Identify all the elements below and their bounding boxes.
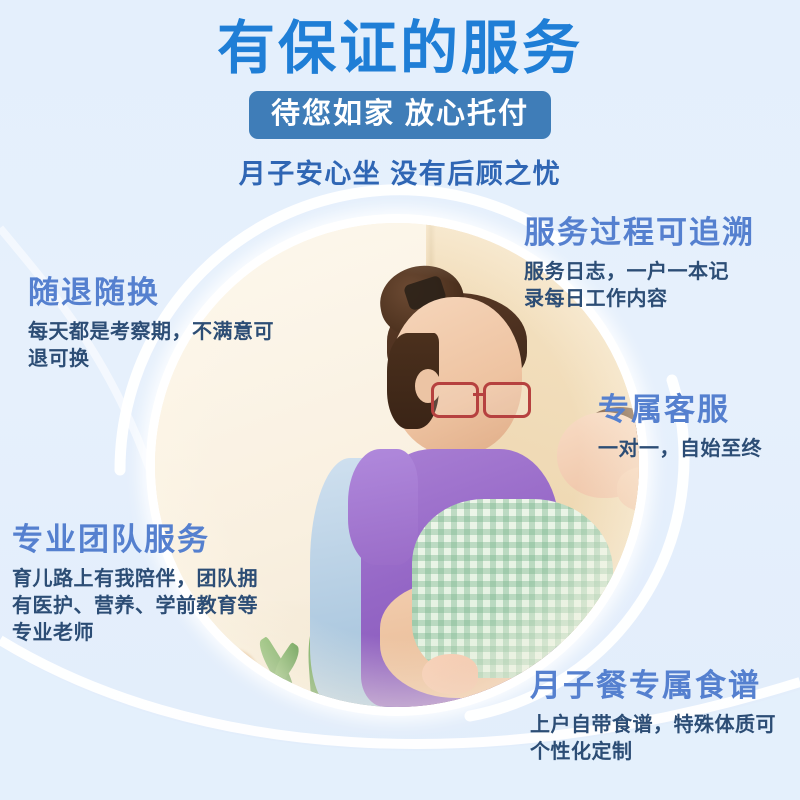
feature-line: 有医护、营养、学前教育等 bbox=[12, 595, 258, 617]
feature-line: 专业老师 bbox=[12, 622, 94, 644]
poster-subtitle: 月子安心坐 没有后顾之忧 bbox=[0, 152, 800, 191]
poster-header: 有保证的服务 待您如家 放心托付 月子安心坐 没有后顾之忧 bbox=[0, 0, 800, 191]
feature-return-title: 随退随换 bbox=[28, 275, 274, 311]
feature-line: 个性化定制 bbox=[530, 741, 633, 763]
promo-poster: 有保证的服务 待您如家 放心托付 月子安心坐 没有后顾之忧 bbox=[0, 0, 800, 800]
feature-service: 专属客服 一对一，自始至终 bbox=[598, 392, 762, 463]
feature-trace: 服务过程可追溯 服务日志，一户一本记 录每日工作内容 bbox=[524, 215, 755, 313]
feature-line: 上户自带食谱，特殊体质可 bbox=[530, 714, 776, 736]
feature-recipe-title: 月子餐专属食谱 bbox=[530, 668, 776, 704]
feature-service-body: 一对一，自始至终 bbox=[598, 436, 762, 463]
feature-team-title: 专业团队服务 bbox=[12, 522, 258, 558]
feature-trace-title: 服务过程可追溯 bbox=[524, 215, 755, 251]
page-title: 有保证的服务 bbox=[0, 0, 800, 81]
badge-wrapper: 待您如家 放心托付 bbox=[0, 91, 800, 139]
feature-line: 录每日工作内容 bbox=[524, 288, 668, 310]
feature-line: 服务日志，一户一本记 bbox=[524, 261, 729, 283]
feature-recipe-body: 上户自带食谱，特殊体质可 个性化定制 bbox=[530, 712, 776, 766]
feature-service-title: 专属客服 bbox=[598, 392, 762, 428]
tagline-badge: 待您如家 放心托付 bbox=[249, 91, 551, 139]
feature-line: 退可换 bbox=[28, 348, 90, 370]
feature-return-body: 每天都是考察期，不满意可 退可换 bbox=[28, 319, 274, 373]
feature-team: 专业团队服务 育儿路上有我陪伴，团队拥 有医护、营养、学前教育等 专业老师 bbox=[12, 522, 258, 647]
feature-team-body: 育儿路上有我陪伴，团队拥 有医护、营养、学前教育等 专业老师 bbox=[12, 566, 258, 647]
feature-recipe: 月子餐专属食谱 上户自带食谱，特殊体质可 个性化定制 bbox=[530, 668, 776, 766]
feature-return: 随退随换 每天都是考察期，不满意可 退可换 bbox=[28, 275, 274, 373]
feature-trace-body: 服务日志，一户一本记 录每日工作内容 bbox=[524, 259, 755, 313]
feature-line: 每天都是考察期，不满意可 bbox=[28, 321, 274, 343]
feature-line: 一对一，自始至终 bbox=[598, 438, 762, 460]
feature-line: 育儿路上有我陪伴，团队拥 bbox=[12, 568, 258, 590]
